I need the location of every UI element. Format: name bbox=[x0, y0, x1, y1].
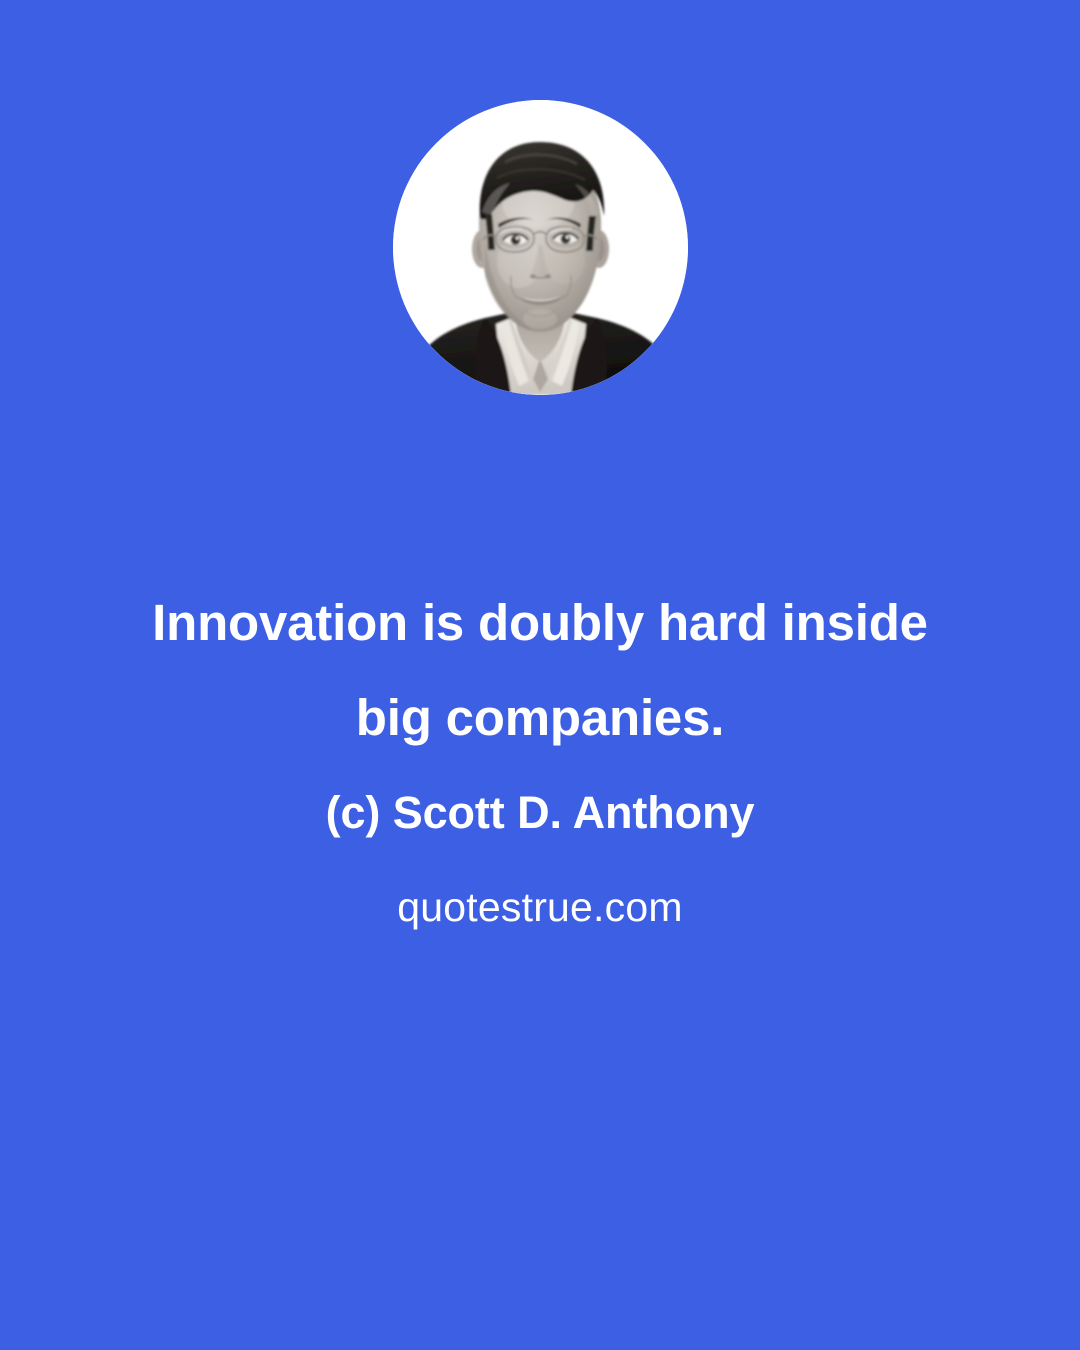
quote-line-2: big companies. bbox=[0, 670, 1080, 765]
quote-text-block: Innovation is doubly hard inside big com… bbox=[0, 575, 1080, 955]
quote-card: Innovation is doubly hard inside big com… bbox=[0, 0, 1080, 1350]
avatar bbox=[393, 100, 688, 395]
quote-line-1: Innovation is doubly hard inside bbox=[0, 575, 1080, 670]
quote-attribution: (c) Scott D. Anthony bbox=[0, 765, 1080, 860]
portrait-photo-icon bbox=[393, 100, 688, 395]
website-label: quotestrue.com bbox=[0, 860, 1080, 955]
